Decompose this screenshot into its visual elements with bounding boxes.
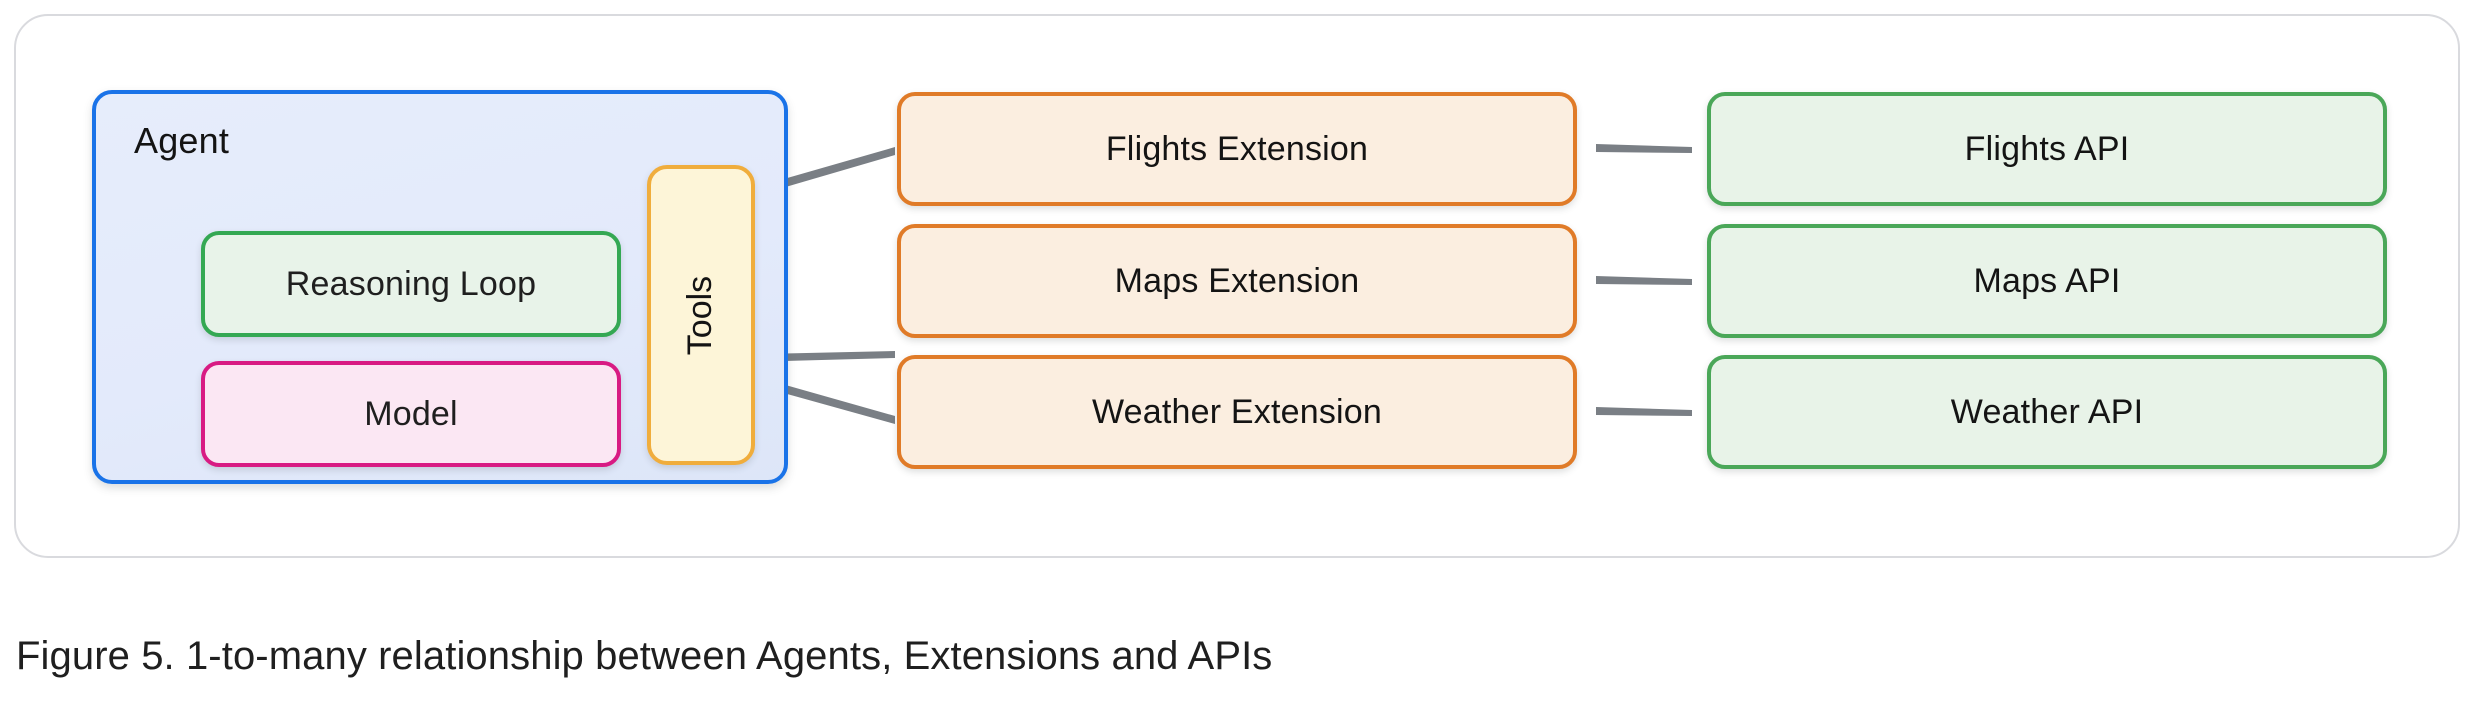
api-box-flights[interactable]: Flights API	[1707, 92, 2387, 206]
api-label: Maps API	[1973, 262, 2120, 301]
figure-frame: Agent Reasoning Loop Model Tools Flights…	[14, 14, 2460, 558]
model-label: Model	[364, 395, 458, 434]
reasoning-loop-box[interactable]: Reasoning Loop	[201, 231, 621, 337]
connector-maps-extension-to-maps-api	[1596, 276, 1692, 285]
tools-box[interactable]: Tools	[647, 165, 755, 465]
connector-weather-extension-to-weather-api	[1596, 407, 1692, 416]
reasoning-loop-label: Reasoning Loop	[286, 265, 536, 304]
extension-box-maps[interactable]: Maps Extension	[897, 224, 1577, 338]
connector-flights-extension-to-flights-api	[1596, 144, 1692, 153]
extension-box-flights[interactable]: Flights Extension	[897, 92, 1577, 206]
agent-title: Agent	[134, 120, 229, 162]
api-label: Weather API	[1951, 393, 2143, 432]
figure-caption: Figure 5. 1-to-many relationship between…	[16, 634, 1272, 679]
api-label: Flights API	[1965, 130, 2130, 169]
extension-box-weather[interactable]: Weather Extension	[897, 355, 1577, 469]
extension-label: Weather Extension	[1092, 393, 1382, 432]
api-box-weather[interactable]: Weather API	[1707, 355, 2387, 469]
extension-label: Flights Extension	[1106, 130, 1368, 169]
extension-label: Maps Extension	[1115, 262, 1360, 301]
api-box-maps[interactable]: Maps API	[1707, 224, 2387, 338]
tools-label: Tools	[682, 275, 721, 354]
agent-container[interactable]: Agent Reasoning Loop Model Tools	[92, 90, 788, 484]
model-box[interactable]: Model	[201, 361, 621, 467]
